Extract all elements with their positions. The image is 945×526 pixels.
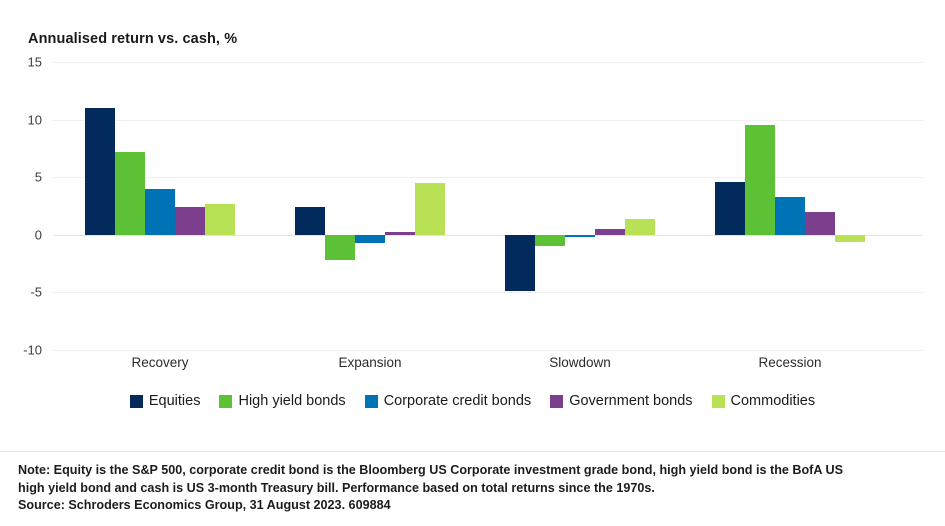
chart-legend: EquitiesHigh yield bondsCorporate credit… — [0, 393, 945, 409]
legend-label: Equities — [149, 393, 201, 409]
bars-layer — [53, 62, 923, 350]
legend-item[interactable]: Corporate credit bonds — [365, 393, 532, 409]
y-axis-tick-0: 0 — [35, 227, 42, 242]
bar[interactable] — [625, 219, 655, 235]
bar[interactable] — [595, 229, 625, 235]
bar[interactable] — [535, 235, 565, 247]
bar[interactable] — [775, 197, 805, 235]
legend-item[interactable]: Commodities — [712, 393, 816, 409]
bar[interactable] — [385, 232, 415, 235]
chart-container: Annualised return vs. cash, % 151050-5-1… — [0, 0, 945, 526]
legend-label: Commodities — [731, 393, 816, 409]
legend-swatch-icon — [712, 395, 725, 408]
chart-title: Annualised return vs. cash, % — [28, 31, 237, 47]
bar[interactable] — [805, 212, 835, 235]
bar[interactable] — [295, 207, 325, 235]
legend-swatch-icon — [130, 395, 143, 408]
footnote-line-3: Source: Schroders Economics Group, 31 Au… — [18, 497, 930, 515]
bar[interactable] — [325, 235, 355, 260]
y-axis-tick-10: 10 — [28, 112, 42, 127]
bar[interactable] — [565, 235, 595, 237]
legend-swatch-icon — [219, 395, 232, 408]
bar[interactable] — [355, 235, 385, 243]
bar[interactable] — [745, 125, 775, 234]
chart-footnote: Note: Equity is the S&P 500, corporate c… — [18, 462, 930, 515]
bar[interactable] — [145, 189, 175, 235]
x-axis-label-expansion: Expansion — [338, 355, 401, 370]
footnote-line-1: Note: Equity is the S&P 500, corporate c… — [18, 462, 930, 480]
legend-label: High yield bonds — [238, 393, 345, 409]
legend-label: Government bonds — [569, 393, 692, 409]
x-axis-label-recovery: Recovery — [131, 355, 188, 370]
legend-item[interactable]: Equities — [130, 393, 201, 409]
footnote-line-2: high yield bond and cash is US 3-month T… — [18, 480, 930, 498]
x-axis-label-slowdown: Slowdown — [549, 355, 611, 370]
bar[interactable] — [715, 182, 745, 235]
x-axis-label-recession: Recession — [758, 355, 821, 370]
legend-swatch-icon — [550, 395, 563, 408]
bar[interactable] — [175, 207, 205, 235]
bar[interactable] — [85, 108, 115, 235]
y-axis-tick-5: 5 — [35, 170, 42, 185]
legend-swatch-icon — [365, 395, 378, 408]
bar[interactable] — [505, 235, 535, 291]
legend-label: Corporate credit bonds — [384, 393, 532, 409]
bar[interactable] — [205, 204, 235, 235]
plot-area: 151050-5-10 — [53, 62, 923, 350]
bar[interactable] — [835, 235, 865, 242]
legend-item[interactable]: High yield bonds — [219, 393, 345, 409]
gridline--10: -10 — [53, 350, 923, 351]
legend-item[interactable]: Government bonds — [550, 393, 692, 409]
y-axis-tick-15: 15 — [28, 55, 42, 70]
footer-divider — [0, 451, 945, 452]
bar[interactable] — [115, 152, 145, 235]
y-axis-tick--5: -5 — [30, 285, 42, 300]
y-axis-tick--10: -10 — [23, 343, 42, 358]
x-axis-labels: RecoveryExpansionSlowdownRecession — [53, 355, 923, 379]
bar[interactable] — [415, 183, 445, 235]
